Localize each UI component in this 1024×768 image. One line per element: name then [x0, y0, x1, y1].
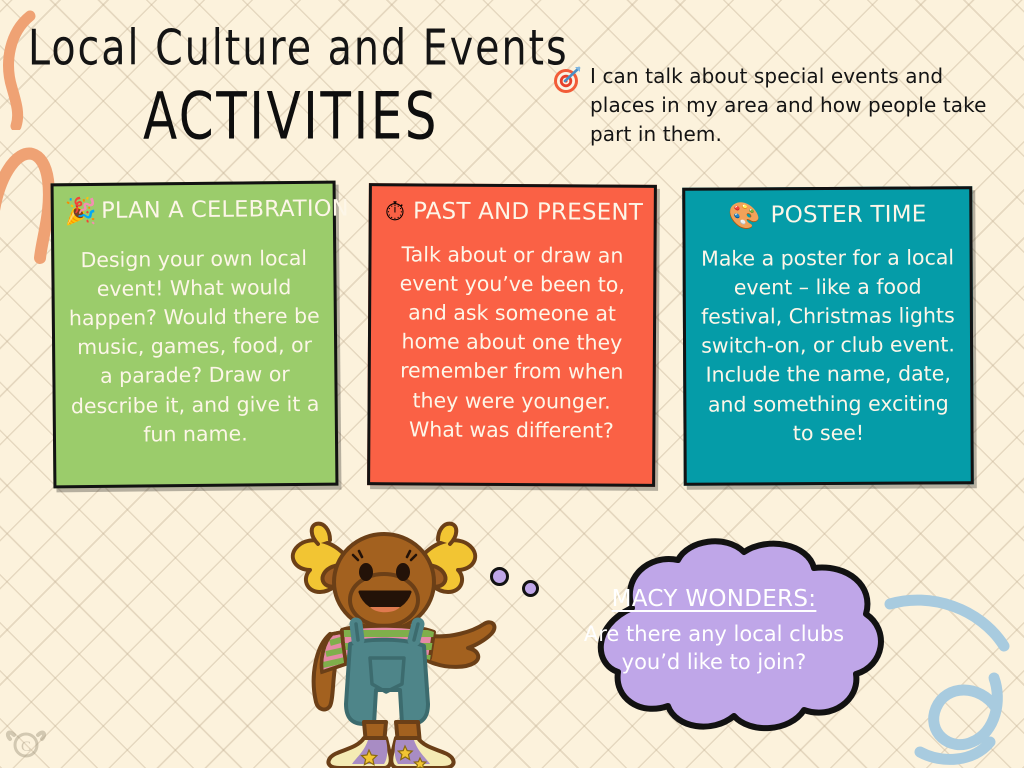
thought-bubble: MACY WONDERS: Are there any local clubs …	[536, 538, 892, 734]
activity-card-past-and-present[interactable]: ⏱ PAST AND PRESENT Talk about or draw an…	[367, 183, 657, 487]
activity-card-poster-time[interactable]: 🎨 POSTER TIME Make a poster for a local …	[682, 186, 974, 486]
mascot-macy-the-moose	[272, 512, 498, 768]
learning-objective-text: I can talk about special events and plac…	[590, 62, 1008, 149]
activity-card-header: 🎨 POSTER TIME	[695, 201, 959, 228]
thought-bubble-content: MACY WONDERS: Are there any local clubs …	[536, 538, 892, 734]
thought-bubble-dot-small-1	[490, 567, 509, 586]
dart-target-icon	[552, 65, 582, 100]
activity-card-body: Talk about or draw an event you’ve been …	[380, 240, 643, 445]
activity-card-body: Design your own local event! What would …	[64, 244, 325, 450]
copyright-watermark: C	[4, 725, 48, 764]
artist-palette-icon: 🎨	[728, 202, 761, 228]
activity-card-header: ⏱ PAST AND PRESENT	[379, 198, 647, 226]
slide-canvas: Local Culture and Events ACTIVITIES I ca…	[0, 0, 1024, 768]
thought-bubble-title: MACY WONDERS:	[612, 586, 817, 612]
party-popper-icon: 🎉	[65, 198, 98, 224]
activity-card-plan-a-celebration[interactable]: 🎉 PLAN A CELEBRATION Design your own loc…	[51, 181, 339, 489]
learning-objective: I can talk about special events and plac…	[552, 62, 1008, 149]
activity-card-title: PAST AND PRESENT	[413, 198, 643, 225]
page-title-subtitle: Local Culture and Events	[28, 24, 543, 73]
activity-card-body: Make a poster for a local event – like a…	[696, 243, 961, 448]
thought-bubble-question: Are there any local clubs you’d like to …	[578, 620, 850, 677]
page-title-block: Local Culture and Events ACTIVITIES	[28, 24, 548, 134]
activity-card-title: PLAN A CELEBRATION	[101, 196, 349, 224]
page-title-main: ACTIVITIES	[34, 84, 548, 149]
activity-card-title: POSTER TIME	[771, 201, 927, 228]
svg-text:C: C	[21, 739, 31, 755]
activity-card-header: 🎉 PLAN A CELEBRATION	[63, 196, 324, 225]
stopwatch-icon: ⏱	[385, 198, 405, 224]
